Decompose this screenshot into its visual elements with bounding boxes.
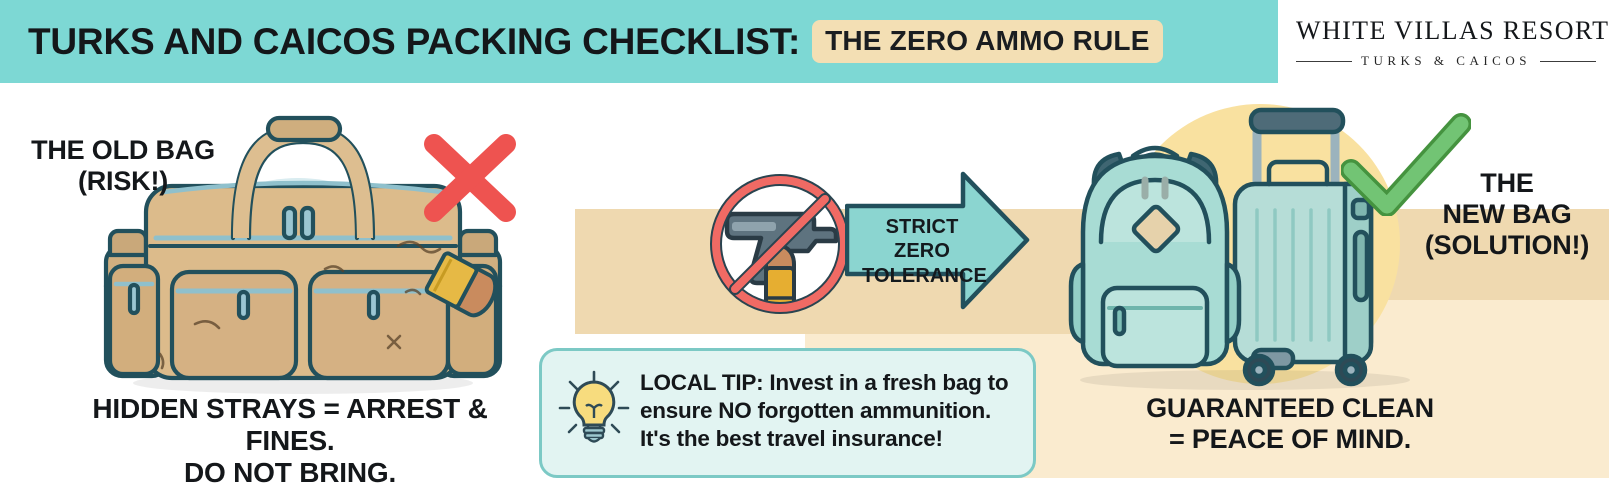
old-bag-label-line1: THE OLD BAG [31, 135, 215, 165]
tip-text-line3: It's the best travel insurance! [640, 426, 943, 451]
resort-logo: WHITE VILLAS RESORT TURKS & CAICOS [1296, 16, 1596, 69]
resort-logo-location: TURKS & CAICOS [1361, 53, 1531, 69]
lightbulb-icon [558, 368, 630, 446]
logo-rule-left [1296, 61, 1352, 62]
left-caption-line1: HIDDEN STRAYS = ARREST & FINES. [92, 393, 487, 456]
left-caption-line2: DO NOT BRING. [184, 457, 396, 488]
tip-text-line2: ensure NO forgotten ammunition. [640, 398, 991, 423]
new-bag-label-line2: NEW BAG [1442, 199, 1571, 229]
new-bag-label-line3: (SOLUTION!) [1425, 230, 1589, 260]
right-caption: GUARANTEED CLEAN = PEACE OF MIND. [1120, 393, 1460, 455]
old-bag-label-line2: (RISK!) [78, 166, 168, 196]
new-bag-label-line1: THE [1480, 168, 1533, 198]
old-bag-label: THE OLD BAG (RISK!) [18, 135, 228, 197]
resort-logo-sub-row: TURKS & CAICOS [1296, 53, 1596, 69]
new-bag-label: THE NEW BAG (SOLUTION!) [1408, 168, 1606, 260]
right-caption-line1: GUARANTEED CLEAN [1146, 393, 1434, 423]
arrow-label: STRICT ZERO TOLERANCE [862, 215, 982, 288]
arrow-label-line2: TOLERANCE [862, 265, 987, 287]
header-bar: TURKS AND CAICOS PACKING CHECKLIST: THE … [0, 0, 1278, 83]
tip-text: LOCAL TIP: Invest in a fresh bag to ensu… [640, 365, 1008, 453]
page-title: TURKS AND CAICOS PACKING CHECKLIST: [28, 21, 800, 63]
local-tip-box: LOCAL TIP: Invest in a fresh bag to ensu… [539, 348, 1036, 478]
resort-logo-name: WHITE VILLAS RESORT [1296, 16, 1596, 46]
no-guns-ammo-sign [700, 168, 860, 320]
left-caption: HIDDEN STRAYS = ARREST & FINES. DO NOT B… [55, 393, 525, 489]
infographic-canvas: THE OLD BAG (RISK!) HIDDEN STRAYS = ARRE… [0, 0, 1609, 478]
header-badge: THE ZERO AMMO RULE [812, 20, 1163, 63]
logo-rule-right [1540, 61, 1596, 62]
red-x-icon [418, 128, 522, 228]
right-caption-line2: = PEACE OF MIND. [1169, 424, 1411, 454]
tip-text-line1: LOCAL TIP: Invest in a fresh bag to [640, 370, 1008, 395]
arrow-label-line1: STRICT ZERO [886, 216, 959, 262]
